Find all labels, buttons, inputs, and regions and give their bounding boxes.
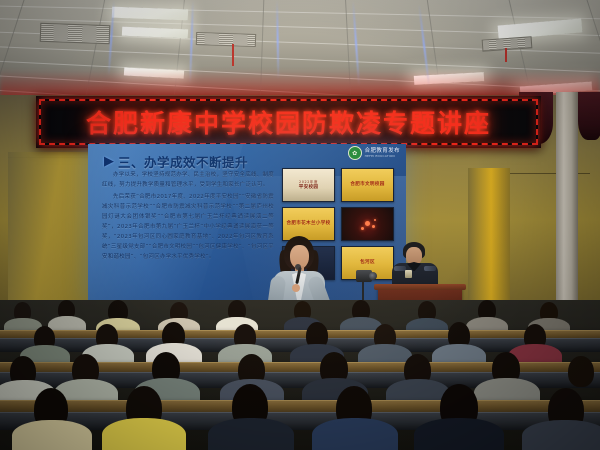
- audience-shoulders: [522, 420, 600, 450]
- air-vent: [40, 23, 111, 44]
- ceiling-light-panel: [498, 18, 583, 39]
- slide-title-text: 三、办学成效不断提升: [118, 152, 248, 171]
- audience-shoulders: [414, 418, 504, 450]
- thumbnail-label: 包河区: [360, 260, 375, 266]
- thumbnail-label: 平安校园: [299, 185, 319, 191]
- slide-thumbnail: 2022年度 平安校园: [282, 168, 335, 202]
- photo-scene: 合肥新康中学校园防欺凌专题讲座 ✿ 合肥教育发布 HEFEI EDUCATION…: [0, 0, 600, 450]
- slide-body: 办学以来，学校坚持规范办学、民主治校，坚守安全底线、制度红线，努力提升教学质量和…: [102, 170, 274, 264]
- audience-area: [0, 300, 600, 450]
- thumbnail-label: 合肥市花木兰小学校: [286, 221, 330, 227]
- video-camera: [356, 268, 378, 284]
- officer-badge-icon: [405, 270, 412, 278]
- slide-logo-sub: HEFEI EDUCATION: [365, 154, 400, 158]
- sprinkler-pipe: [232, 44, 234, 66]
- audience-shoulders: [12, 420, 92, 450]
- audience-shoulders: [102, 418, 186, 450]
- audience-shoulders: [208, 418, 294, 450]
- led-banner-text: 合肥新康中学校园防欺凌专题讲座: [36, 104, 541, 140]
- ceiling-light-panel: [112, 7, 188, 21]
- thumbnail-label: 合肥市文明校园: [350, 182, 384, 188]
- camera-lens-icon: [369, 272, 377, 280]
- slide-logo: ✿ 合肥教育发布 HEFEI EDUCATION: [348, 146, 400, 160]
- slide-thumbnail: 合肥市文明校园: [341, 168, 394, 202]
- slide-thumbnail: [341, 207, 394, 241]
- air-vent: [196, 32, 256, 47]
- slide-paragraph: 办学以来，学校坚持规范办学、民主治校，坚守安全底线、制度红线，努力提升教学质量和…: [102, 170, 274, 190]
- stage-curtain: [578, 92, 600, 140]
- school-emblem-icon: ✿: [348, 146, 362, 160]
- seat-back-row: [0, 412, 600, 430]
- slide-paragraph: 先后荣获“合肥市2017年度、2022年度平安校园”“安徽省防震减灾科普示范学校…: [102, 192, 274, 262]
- sprinkler-pipe: [505, 48, 507, 62]
- thumbnail-year: 2022年度: [299, 179, 319, 184]
- audience-shoulders: [312, 418, 398, 450]
- ceiling: [0, 0, 600, 103]
- led-banner: 合肥新康中学校园防欺凌专题讲座: [36, 96, 541, 148]
- slide-title: ▶ 三、办学成效不断提升: [104, 152, 248, 171]
- audience-head: [568, 356, 594, 387]
- arrow-right-icon: ▶: [104, 155, 114, 168]
